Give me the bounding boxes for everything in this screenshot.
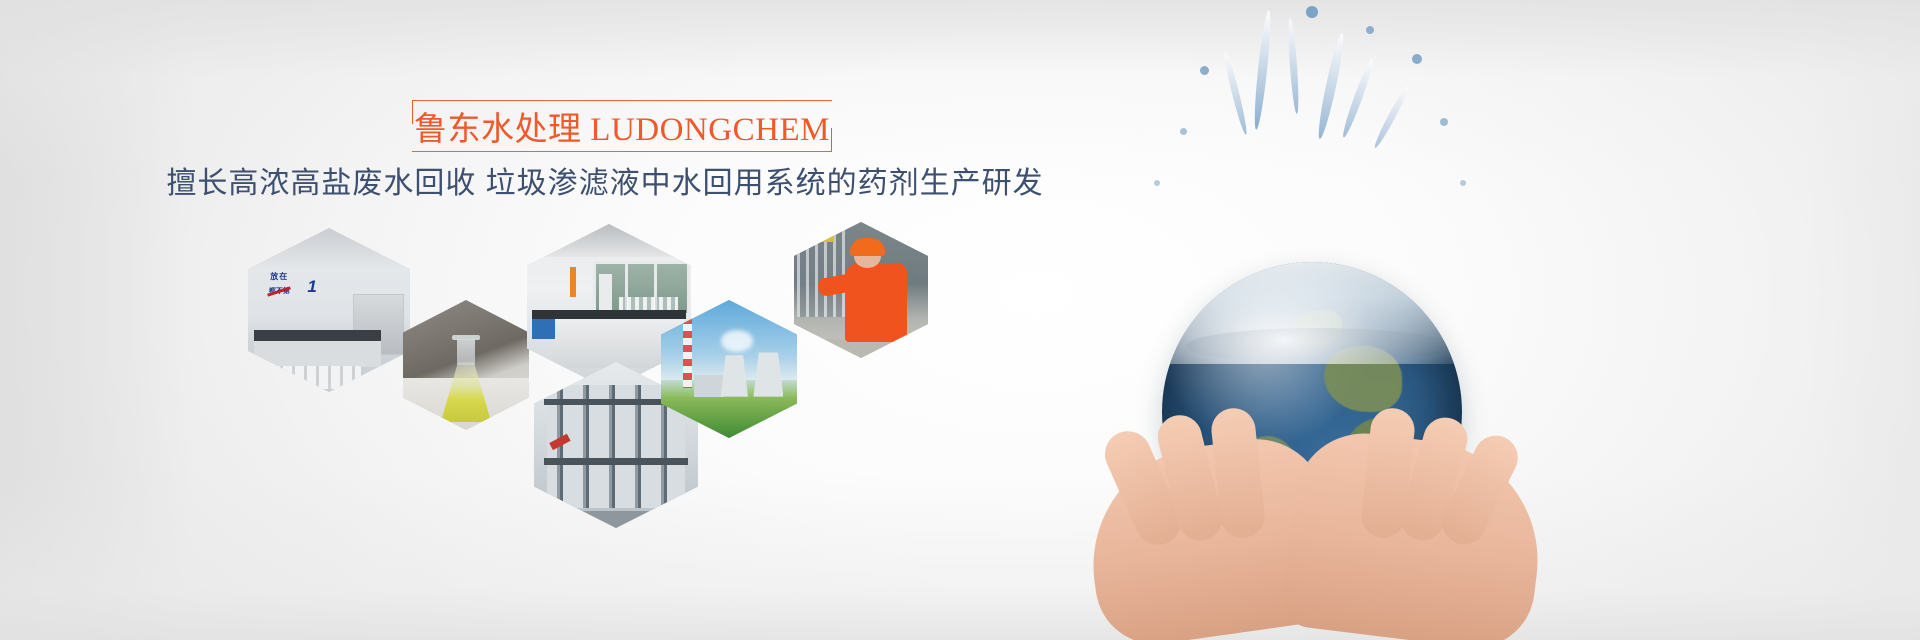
yellow-valve [805, 236, 834, 243]
water-globe-scene [1020, 0, 1580, 640]
orange-stand [570, 267, 577, 297]
floor [534, 511, 698, 528]
wall-slogan: 放在 都不第 1 [267, 271, 338, 304]
floor [794, 339, 928, 358]
slogan-number: 1 [307, 278, 316, 295]
plant-building [694, 375, 724, 397]
ceiling [248, 228, 410, 271]
cupped-hands [1090, 400, 1540, 640]
pipe-array [797, 227, 851, 317]
chimney-stack [683, 317, 693, 389]
photo-yellow-flask [403, 300, 529, 430]
water-foam [1162, 262, 1462, 364]
lower-rail [544, 458, 688, 465]
blue-frame [532, 319, 555, 339]
hero-banner: 鲁东水处理 LUDONGCHEM 擅长高浓高盐废水回收 垃圾渗滤液中水回用系统的… [0, 0, 1920, 640]
hex-tile-lab-room[interactable]: 放在 都不第 1 [248, 228, 410, 392]
ceiling [527, 224, 691, 257]
safety-helmet-icon [850, 238, 885, 256]
lab-bench-base [254, 341, 380, 367]
lab-bench-top [254, 330, 380, 341]
worker-coverall [845, 263, 907, 342]
counter-top [532, 310, 686, 318]
flask-neck [457, 339, 475, 365]
hexagon-photo-cluster: 放在 都不第 1 [0, 0, 1000, 640]
flask-lip [452, 335, 480, 340]
hex-tile-worker[interactable] [794, 222, 928, 358]
chemical-jugs [271, 366, 362, 389]
slogan-top: 放在 [270, 271, 288, 282]
hex-tile-yellow-flask[interactable] [403, 300, 529, 430]
photo-lab-room: 放在 都不第 1 [248, 228, 410, 392]
photo-worker [794, 222, 928, 358]
